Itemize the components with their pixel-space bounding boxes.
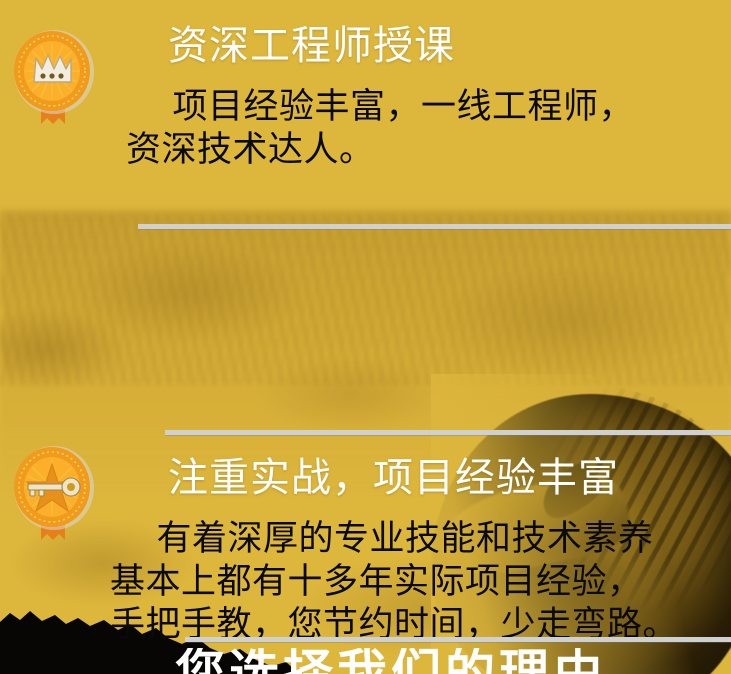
section-1-body: 项目经验丰富，一线工程师， 资深技术达人。 [126, 86, 634, 172]
section-1-title: 资深工程师授课 [168, 26, 455, 66]
feature-section-1: 资深工程师授课 项目经验丰富，一线工程师， 资深技术达人。 [0, 0, 731, 218]
crown-medal-icon [8, 28, 100, 132]
feature-section-3: 乐于分享，认真负责 针对客户实际需求，案例教学， 边讲边练，互动式授课， [0, 430, 731, 630]
bottom-headline: 您选择我们的理由 [175, 648, 607, 674]
feature-section-2: 注重实战，项目经验丰富 有着深厚的专业技能和技术素养 基本上都有十多年实际项目经… [0, 218, 731, 430]
promo-poster: 资深工程师授课 项目经验丰富，一线工程师， 资深技术达人。 [0, 0, 731, 674]
section-divider-3 [185, 637, 731, 642]
